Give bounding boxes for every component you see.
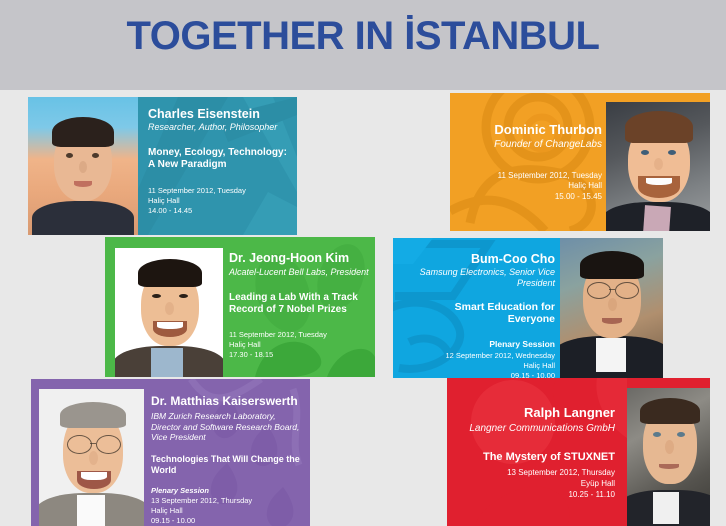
speaker-topic-line2: A New Paradigm [148,159,293,171]
speaker-time: 14.00 - 14.45 [148,206,293,216]
speaker-time: 10.25 - 11.10 [455,490,615,501]
speaker-role-line1: IBM Zurich Research Laboratory, [151,411,309,421]
speaker-photo-jeong-hoon-kim [115,248,223,377]
speaker-card-bum-coo-cho[interactable]: Bum-Coo Cho Samsung Electronics, Senior … [393,238,663,378]
speaker-topic-line1: Smart Education for Everyone [407,301,555,327]
speaker-card-charles-eisenstein[interactable]: Charles Eisenstein Researcher, Author, P… [28,97,297,235]
card-text-block: Dominic Thurbon Founder of ChangeLabs 11… [462,123,602,203]
speaker-role: Langner Communications GmbH [455,423,615,435]
speaker-date: 13 September 2012, Thursday [455,468,615,479]
speaker-time: 09.15 - 10.00 [151,516,309,526]
speaker-name: Ralph Langner [455,406,615,421]
speaker-role-line3: Vice President [151,432,309,442]
speaker-role-line1: Samsung Electronics, Senior Vice [407,267,555,278]
speaker-date: 13 September 2012, Thursday [151,496,309,506]
card-text-block: Charles Eisenstein Researcher, Author, P… [148,107,293,217]
speaker-role: Alcatel-Lucent Bell Labs, President [229,267,369,278]
speaker-photo-dominic-thurbon [606,102,710,231]
header-band: TOGETHER IN İSTANBUL [0,0,726,90]
card-text-block: Ralph Langner Langner Communications Gmb… [455,406,615,500]
speaker-photo-ralph-langner [627,388,710,526]
speaker-hall: Haliç Hall [151,506,309,516]
speaker-plenary-label: Plenary Session [407,339,555,349]
speaker-photo-charles-eisenstein [28,97,138,235]
speaker-role: Researcher, Author, Philosopher [148,122,293,133]
speaker-hall: Eyüp Hall [455,479,615,490]
speaker-hall: Haliç Hall [462,181,602,192]
speaker-photo-matthias-kaiserswerth [39,389,144,526]
speaker-name: Dr. Jeong-Hoon Kim [229,251,369,265]
speaker-hall: Haliç Hall [229,340,369,350]
speaker-date: 11 September 2012, Tuesday [229,330,369,340]
card-text-block: Dr. Matthias Kaiserswerth IBM Zurich Res… [151,395,309,526]
poster-canvas: TOGETHER IN İSTANBUL Charles E [0,0,726,526]
speaker-role-line2: President [407,278,555,289]
card-text-block: Dr. Jeong-Hoon Kim Alcatel-Lucent Bell L… [229,251,369,361]
speaker-topic-line1: The Mystery of STUXNET [455,451,615,464]
speaker-photo-bum-coo-cho [560,238,663,378]
speaker-role: Founder of ChangeLabs [462,139,602,151]
speaker-date: 11 September 2012, Tuesday [462,171,602,182]
speaker-time: 15.00 - 15.45 [462,192,602,203]
card-text-block: Bum-Coo Cho Samsung Electronics, Senior … [407,252,555,378]
speaker-name: Dr. Matthias Kaiserswerth [151,395,309,408]
page-title: TOGETHER IN İSTANBUL [0,14,726,59]
speaker-card-ralph-langner[interactable]: Ralph Langner Langner Communications Gmb… [447,378,710,526]
speaker-role-line2: Director and Software Research Board, [151,422,309,432]
speaker-date: 12 September 2012, Wednesday [407,351,555,361]
speaker-topic-line1: Leading a Lab With a Track [229,292,369,304]
speaker-card-dominic-thurbon[interactable]: Dominic Thurbon Founder of ChangeLabs 11… [450,93,710,231]
speaker-name: Dominic Thurbon [462,123,602,138]
speaker-time: 17.30 - 18.15 [229,350,369,360]
speaker-plenary-label: Plenary Session [151,486,309,495]
speaker-card-jeong-hoon-kim[interactable]: Dr. Jeong-Hoon Kim Alcatel-Lucent Bell L… [105,237,375,377]
speaker-topic-line1: Technologies That Will Change the World [151,454,309,476]
speaker-date: 11 September 2012, Tuesday [148,186,293,196]
speaker-name: Bum-Coo Cho [407,252,555,266]
speaker-hall: Haliç Hall [407,361,555,371]
speaker-card-matthias-kaiserswerth[interactable]: Dr. Matthias Kaiserswerth IBM Zurich Res… [31,379,310,526]
speaker-hall: Haliç Hall [148,196,293,206]
speaker-name: Charles Eisenstein [148,107,293,121]
speaker-topic-line1: Money, Ecology, Technology: [148,147,293,159]
speaker-topic-line2: Record of 7 Nobel Prizes [229,304,369,316]
